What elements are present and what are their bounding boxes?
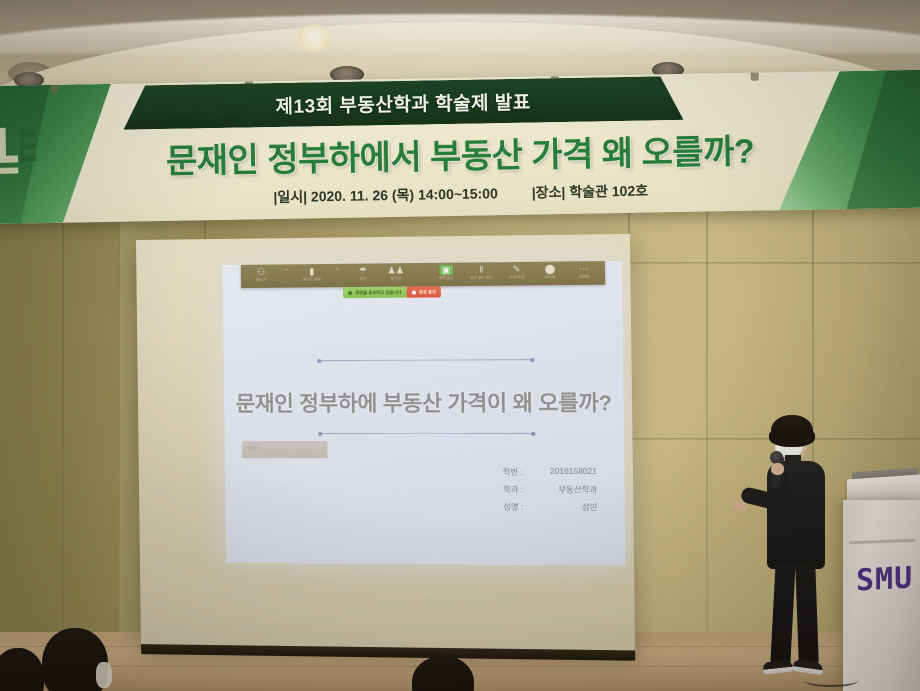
toolbar-item-camera[interactable]: ▮ 비디오 중지 <box>303 266 322 282</box>
toolbar-item-participants[interactable]: ♟♟ 참가자 <box>386 265 405 281</box>
slide-student-info: 학번 : 2016158021 학과 : 부동산학과 성명 : 성민 <box>503 467 598 520</box>
lecture-hall-scene: 제13회 부동산학과 학술제 발표 문재인 정부하에서 부동산 가격 왜 오를까… <box>0 0 920 691</box>
banner-top-title: 제13회 부동산학과 학술제 발표 <box>275 87 531 118</box>
banner-date-value: 2020. 11. 26 (목) 14:00~15:00 <box>311 183 498 206</box>
toolbar-item-record[interactable]: ⬤ 레코딩 <box>541 264 560 281</box>
stop-share-dot-icon <box>412 290 416 294</box>
toolbar-label-record: 레코딩 <box>545 275 555 280</box>
sharing-status-dot-icon <box>348 291 352 295</box>
screen-share-indicator: 화면을 공유하고 있습니다 공유 중지 <box>343 286 441 298</box>
info-key-name: 성명 : <box>503 501 523 512</box>
toolbar-item-annotate[interactable]: ✎ 주석 작성 <box>507 264 526 281</box>
banner-venue-group: |장소| 학술관 102호 <box>532 181 649 203</box>
toolbar-item-share-screen[interactable]: ▣ 화면 공유 <box>437 265 456 281</box>
stop-share-button[interactable]: 공유 중지 <box>406 286 441 298</box>
presenter-leg-right <box>795 563 818 664</box>
slide-presenter-bar-text: 발표자 <box>247 445 261 452</box>
zoom-meeting-toolbar[interactable]: ⚇ 음소거 ▲ ▮ 비디오 중지 ▲ ☂ 보안 ♟♟ 참가자 ─ <box>241 261 605 288</box>
presenter-leg-left <box>770 563 795 664</box>
toolbar-label-microphone: 음소거 <box>256 278 266 283</box>
projected-slide: ⚇ 음소거 ▲ ▮ 비디오 중지 ▲ ☂ 보안 ♟♟ 참가자 ─ <box>223 261 626 566</box>
audience-mask-center <box>96 662 112 688</box>
presenter-hair-front <box>769 427 815 447</box>
event-banner: 제13회 부동산학과 학술제 발표 문재인 정부하에서 부동산 가격 왜 오를까… <box>0 70 920 224</box>
slide-divider-bottom <box>320 433 533 434</box>
banner-venue-value: 학술관 102호 <box>569 181 648 202</box>
sharing-status-text: 화면을 공유하고 있습니다 <box>355 289 401 295</box>
pencil-icon: ✎ <box>513 264 521 274</box>
toolbar-item-microphone[interactable]: ⚇ 음소거 <box>252 267 270 283</box>
projection-screen: ⚇ 음소거 ▲ ▮ 비디오 중지 ▲ ☂ 보안 ♟♟ 참가자 ─ <box>136 234 635 652</box>
slide-title: 문재인 정부하에 부동산 가격이 왜 오를까? <box>224 387 624 418</box>
toolbar-item-security[interactable]: ☂ 보안 <box>354 266 373 282</box>
floor-cable <box>803 673 859 687</box>
info-row-student-id: 학번 : 2016158021 <box>503 467 597 478</box>
camera-icon: ▮ <box>309 266 314 276</box>
chevron-up-icon-mic[interactable]: ▲ <box>284 266 288 271</box>
stop-share-label: 공유 중지 <box>419 289 436 295</box>
info-key-department: 학과 : <box>503 484 523 495</box>
pause-icon: ‖ <box>479 264 483 274</box>
wall-seam-horizontal <box>628 262 920 264</box>
info-value-student-id: 2016158021 <box>550 467 597 478</box>
info-key-student-id: 학번 : <box>503 467 523 478</box>
info-row-name: 성명 : 성민 <box>503 501 597 513</box>
toolbar-item-more[interactable]: ⋯ 자세히 <box>574 263 593 280</box>
toolbar-label-share-screen: 화면 공유 <box>439 276 454 281</box>
banner-date-group: |일시| 2020. 11. 26 (목) 14:00~15:00 <box>273 183 498 207</box>
chevron-up-icon-cam[interactable]: ▲ <box>335 266 339 271</box>
banner-date-label: |일시| <box>273 187 307 208</box>
podium-logo: SMU <box>856 561 913 599</box>
more-icon: ⋯ <box>579 263 589 273</box>
presenter-shoe-left <box>762 659 793 674</box>
toolbar-label-camera: 비디오 중지 <box>303 277 321 282</box>
info-row-department: 학과 : 부동산학과 <box>503 484 597 496</box>
sharing-status-pill: 화면을 공유하고 있습니다 <box>343 287 407 299</box>
shield-icon: ☂ <box>359 266 367 276</box>
share-screen-icon: ▣ <box>440 265 453 275</box>
record-icon: ⬤ <box>545 264 556 274</box>
banner-venue-label: |장소| <box>532 182 566 203</box>
toolbar-label-participants: 참가자 <box>391 276 401 281</box>
ceiling-arch-highlight <box>0 14 920 54</box>
toolbar-label-more: 자세히 <box>579 275 590 280</box>
toolbar-label-annotate: 주석 작성 <box>509 275 524 280</box>
info-value-department: 부동산학과 <box>558 484 597 495</box>
presenter-hand-right <box>771 463 784 475</box>
presenter <box>745 415 855 691</box>
info-value-name: 성민 <box>582 502 598 513</box>
spotlight <box>296 24 332 52</box>
toolbar-item-pause-share[interactable]: ‖ 공유 일시 중지 <box>470 264 493 281</box>
slide-presenter-bar: 발표자 <box>242 441 328 458</box>
participants-icon: ♟♟ <box>387 265 404 275</box>
slide-divider-top <box>319 359 532 361</box>
chevron-up-icon-participants[interactable]: ─ <box>419 265 422 270</box>
microphone-icon: ⚇ <box>257 267 265 277</box>
toolbar-label-security: 보안 <box>360 277 367 282</box>
presenter-legs <box>773 563 819 663</box>
toolbar-label-pause-share: 공유 일시 중지 <box>470 276 493 281</box>
